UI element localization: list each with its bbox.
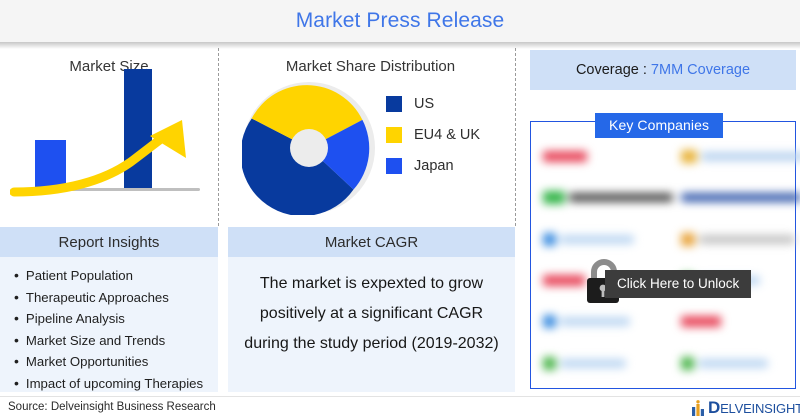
key-companies-logo-grid[interactable] [533, 134, 793, 386]
list-item: •Patient Population [14, 265, 218, 287]
company-logo-mark [681, 357, 694, 370]
delveinsight-wordmark: DELVEINSIGHT [708, 398, 800, 418]
divider-vertical-right [515, 48, 516, 226]
bullet-dot-icon: • [14, 373, 19, 395]
titlebar: Market Press Release [0, 0, 800, 42]
market-cagr-body: The market is expexted to grow positivel… [228, 257, 515, 359]
company-logo-wordmark [560, 317, 630, 326]
list-item-label: Patient Population [26, 265, 133, 287]
company-logo-mark [681, 316, 721, 327]
company-logo [677, 177, 800, 218]
page-title: Market Press Release [296, 9, 505, 33]
company-logo-mark [543, 357, 556, 370]
list-item-label: Market Opportunities [26, 351, 148, 373]
source-note: Source: Delveinsight Business Research [8, 401, 216, 413]
company-logo-wordmark [698, 359, 768, 368]
bullet-dot-icon: • [14, 265, 19, 287]
legend-label-us: US [414, 96, 434, 112]
company-logo-mark [543, 191, 565, 204]
market-share-pie-chart [242, 81, 376, 215]
company-logo [677, 219, 800, 260]
report-insights-panel: Report Insights •Patient Population•Ther… [0, 227, 218, 392]
coverage-text: Coverage : 7MM Coverage [576, 62, 750, 78]
company-logo-wordmark [560, 359, 626, 368]
company-logo [677, 301, 800, 342]
legend-swatch-icon [386, 158, 402, 174]
market-share-panel: Market Share Distribution US EU4 & UK Ja… [218, 48, 515, 226]
growth-arrow-icon [10, 118, 210, 224]
bullet-dot-icon: • [14, 287, 19, 309]
brand-rest: ELVEINSIGHT [720, 401, 800, 416]
company-logo-mark [543, 275, 585, 286]
bullet-dot-icon: • [14, 330, 19, 352]
list-item-label: Therapeutic Approaches [26, 287, 169, 309]
legend-label-eu4-uk: EU4 & UK [414, 127, 480, 143]
unlock-tooltip[interactable]: Click Here to Unlock [605, 270, 751, 298]
bullet-dot-icon: • [14, 351, 19, 373]
legend-item-eu4-uk: EU4 & UK [386, 127, 480, 143]
market-cagr-panel: Market CAGR The market is expexted to gr… [228, 227, 515, 392]
company-logo [677, 343, 800, 384]
market-size-title: Market Size [0, 48, 218, 75]
company-logo-wordmark [699, 235, 795, 244]
coverage-label: Coverage : [576, 62, 651, 78]
list-item-label: Impact of upcoming Therapies [26, 373, 203, 395]
delveinsight-logo: DELVEINSIGHT [692, 398, 800, 418]
legend-label-japan: Japan [414, 158, 454, 174]
market-cagr-title: Market CAGR [228, 227, 515, 257]
company-logo [539, 177, 677, 218]
list-item: •Therapeutic Approaches [14, 287, 218, 309]
company-logo [539, 136, 677, 177]
coverage-box: Coverage : 7MM Coverage [530, 50, 796, 90]
company-logo-mark [543, 151, 587, 162]
delveinsight-bars-icon [692, 400, 707, 417]
company-logo-wordmark [701, 152, 800, 161]
company-logo-wordmark [560, 235, 634, 244]
key-companies-badge: Key Companies [595, 113, 723, 138]
legend-item-us: US [386, 96, 480, 112]
market-share-title: Market Share Distribution [218, 48, 515, 75]
company-logo [539, 343, 677, 384]
list-item: •Impact of upcoming Therapies [14, 373, 218, 395]
company-logo-mark [543, 315, 556, 328]
list-item-label: Pipeline Analysis [26, 308, 125, 330]
brand-initial: D [708, 398, 720, 417]
market-size-panel: Market Size 2019 2032 [0, 48, 218, 226]
market-size-bar-chart: 2019 2032 [0, 84, 218, 224]
coverage-value: 7MM Coverage [651, 62, 750, 78]
list-item-label: Market Size and Trends [26, 330, 165, 352]
list-item: •Market Opportunities [14, 351, 218, 373]
report-insights-list: •Patient Population•Therapeutic Approach… [0, 257, 218, 394]
legend-swatch-icon [386, 96, 402, 112]
list-item: •Market Size and Trends [14, 330, 218, 352]
report-insights-title: Report Insights [0, 227, 218, 257]
company-logo-wordmark [569, 193, 673, 202]
company-logo [677, 136, 800, 177]
footer-divider [0, 396, 800, 397]
legend-swatch-icon [386, 127, 402, 143]
company-logo-mark [681, 233, 695, 246]
legend-item-japan: Japan [386, 158, 480, 174]
market-share-legend: US EU4 & UK Japan [386, 96, 480, 174]
company-logo [539, 219, 677, 260]
list-item: •Pipeline Analysis [14, 308, 218, 330]
bullet-dot-icon: • [14, 308, 19, 330]
company-logo-mark [543, 233, 556, 246]
company-logo-wordmark [681, 193, 800, 202]
company-logo-mark [681, 150, 697, 163]
